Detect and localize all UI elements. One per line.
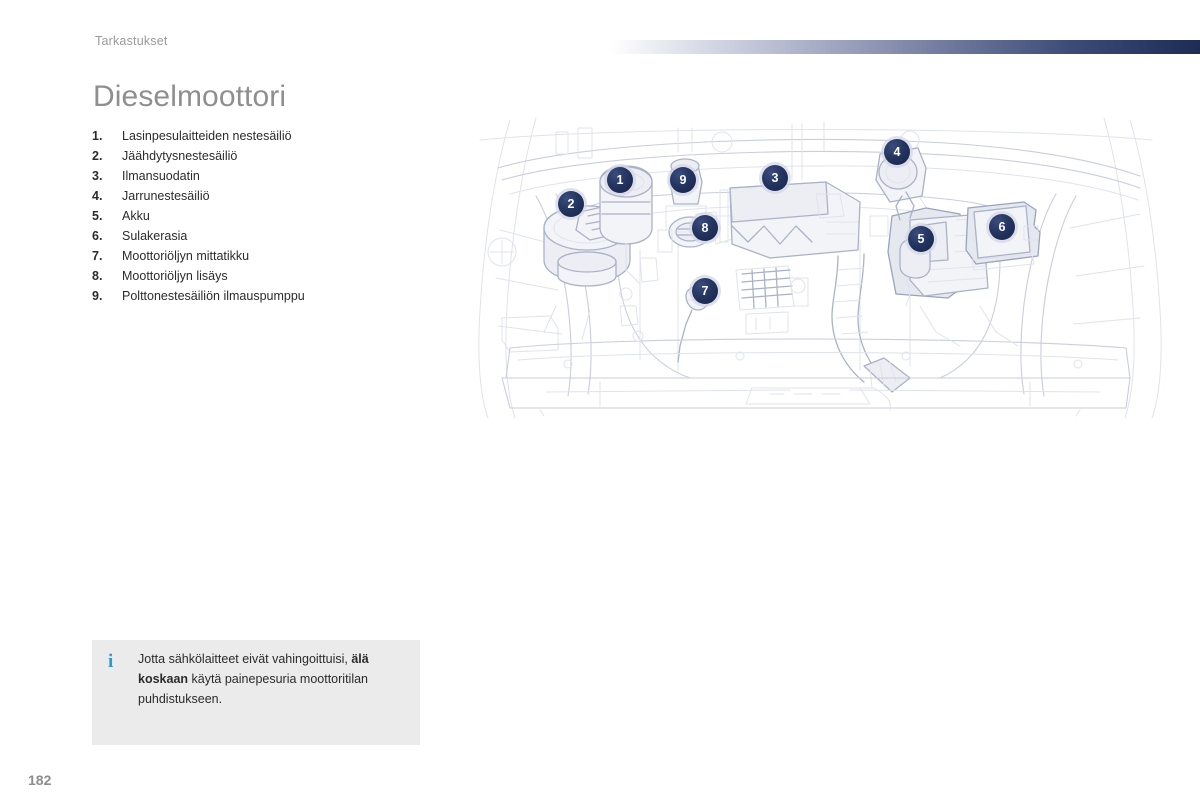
list-item-label: Jarrunestesäiliö [122, 189, 210, 203]
page-title: Dieselmoottori [93, 80, 286, 114]
list-item-number: 2. [92, 149, 122, 163]
list-item-label: Akku [122, 209, 150, 223]
callout-marker-7[interactable]: 7 [692, 278, 718, 304]
list-item-label: Sulakerasia [122, 229, 187, 243]
callout-marker-4[interactable]: 4 [884, 139, 910, 165]
list-item: 8. Moottoriöljyn lisäys [92, 269, 422, 289]
callout-marker-9[interactable]: 9 [670, 167, 696, 193]
list-item: 3. Ilmansuodatin [92, 169, 422, 189]
list-item-number: 6. [92, 229, 122, 243]
callout-marker-8[interactable]: 8 [692, 215, 718, 241]
list-item: 7. Moottoriöljyn mittatikku [92, 249, 422, 269]
list-item-number: 8. [92, 269, 122, 283]
list-item: 5. Akku [92, 209, 422, 229]
list-item-label: Polttonestesäiliön ilmauspumppu [122, 289, 305, 303]
page-number: 182 [28, 772, 51, 788]
header-gradient-bar [610, 40, 1200, 54]
list-item: 4. Jarrunestesäiliö [92, 189, 422, 209]
list-item-label: Jäähdytysnestesäiliö [122, 149, 237, 163]
info-callout-text: Jotta sähkölaitteet eivät vahingoittuisi… [138, 649, 406, 709]
info-callout-box: i Jotta sähkölaitteet eivät vahingoittui… [92, 640, 420, 745]
list-item: 2. Jäähdytysnestesäiliö [92, 149, 422, 169]
manual-page: Tarkastukset Dieselmoottori 1. Lasinpesu… [0, 0, 1200, 800]
callout-marker-6[interactable]: 6 [989, 214, 1015, 240]
list-item-label: Lasinpesulaitteiden nestesäiliö [122, 129, 292, 143]
list-item-label: Ilmansuodatin [122, 169, 200, 183]
list-item: 6. Sulakerasia [92, 229, 422, 249]
callout-marker-1[interactable]: 1 [607, 167, 633, 193]
info-icon: i [108, 651, 113, 673]
list-item-label: Moottoriöljyn lisäys [122, 269, 228, 283]
list-item: 9. Polttonestesäiliön ilmauspumppu [92, 289, 422, 309]
list-item-number: 7. [92, 249, 122, 263]
info-line-1: Jotta sähkölaitteet eivät vahingoittuisi… [138, 652, 348, 666]
list-item-number: 9. [92, 289, 122, 303]
callout-marker-2[interactable]: 2 [558, 191, 584, 217]
callout-marker-5[interactable]: 5 [908, 226, 934, 252]
legend-list: 1. Lasinpesulaitteiden nestesäiliö 2. Jä… [92, 129, 422, 309]
info-line-2-rest: käytä painepesuria [188, 672, 296, 686]
list-item-label: Moottoriöljyn mittatikku [122, 249, 249, 263]
list-item-number: 4. [92, 189, 122, 203]
list-item-number: 3. [92, 169, 122, 183]
list-item-number: 5. [92, 209, 122, 223]
list-item: 1. Lasinpesulaitteiden nestesäiliö [92, 129, 422, 149]
running-head: Tarkastukset [95, 34, 168, 48]
callout-marker-3[interactable]: 3 [762, 165, 788, 191]
list-item-number: 1. [92, 129, 122, 143]
engine-bay-illustration: .ln { fill:none; stroke:#c9cede; stroke-… [440, 110, 1200, 420]
